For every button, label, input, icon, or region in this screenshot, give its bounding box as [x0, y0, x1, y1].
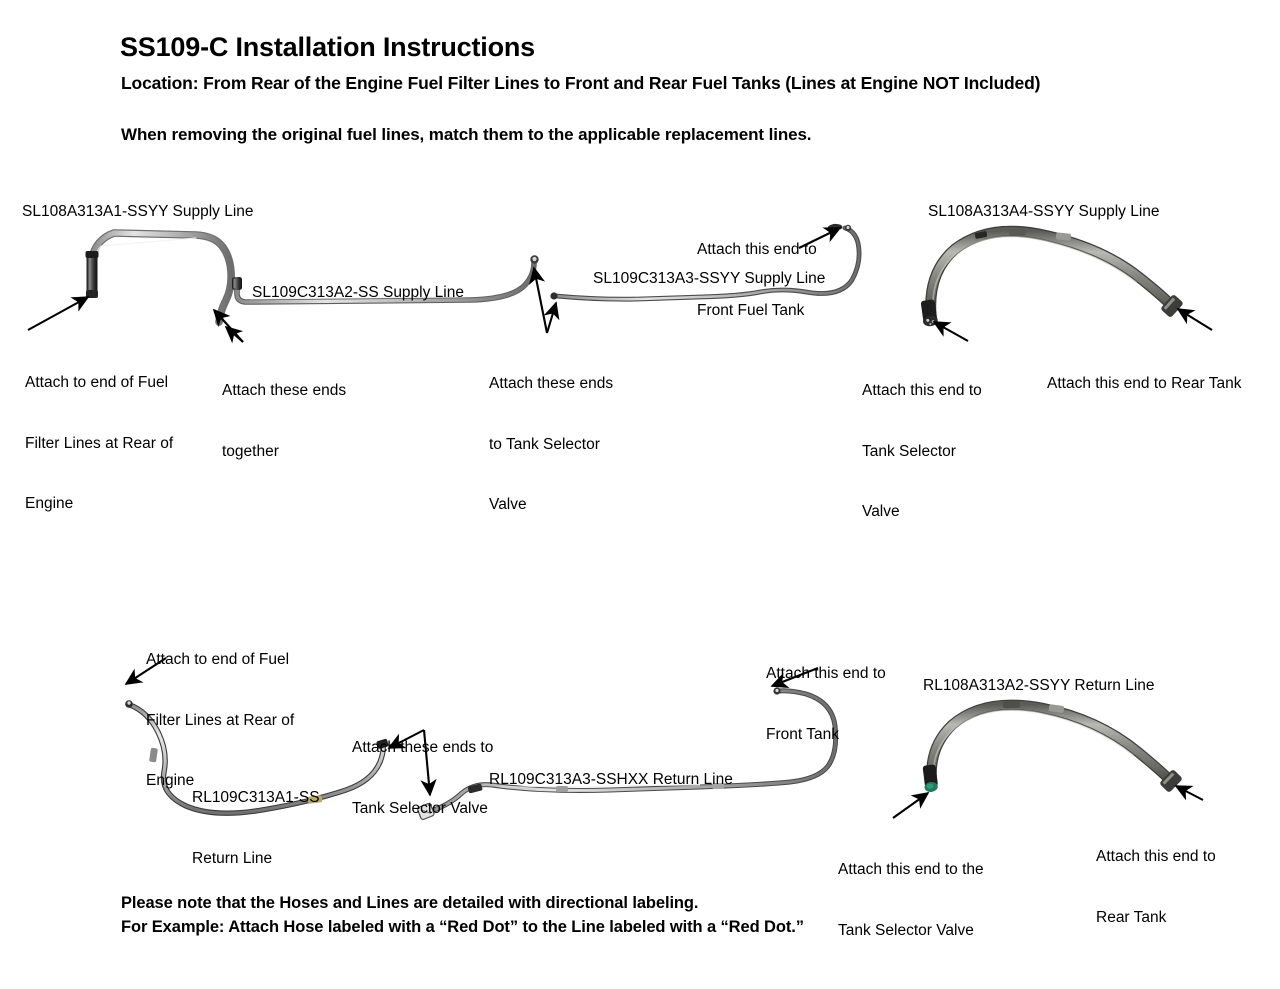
- callout-supply-attach-fuel-filter: Attach to end of Fuel Filter Lines at Re…: [25, 333, 173, 555]
- callout-line: Filter Lines at Rear of: [25, 434, 173, 454]
- callout-return-front-tank: Attach this end to Front Tank: [766, 624, 886, 785]
- callout-line: Attach these ends: [489, 374, 613, 394]
- callout-line: Attach this end to Rear Tank: [1047, 374, 1241, 394]
- callout-line: Rear Tank: [1096, 908, 1216, 928]
- part-label-sl108a313a4: SL108A313A4-SSYY Supply Line: [928, 202, 1160, 222]
- callout-line: Attach this end to: [862, 381, 982, 401]
- callout-line: Tank Selector Valve: [838, 921, 984, 941]
- callout-supply-rear-tank: Attach this end to Rear Tank: [1047, 334, 1241, 435]
- page-subtitle: Location: From Rear of the Engine Fuel F…: [121, 72, 1040, 95]
- callout-line: Tank Selector: [862, 442, 982, 462]
- part-sl108a313a1-tube: [86, 233, 232, 322]
- callout-line: together: [222, 442, 346, 462]
- callout-line: Attach this end to: [766, 664, 886, 684]
- callout-line: Engine: [25, 494, 173, 514]
- callout-line: Attach to end of Fuel: [25, 373, 173, 393]
- callout-supply-hose-tank-selector: Attach this end to Tank Selector Valve: [862, 341, 982, 563]
- part-label-sl108a313a1: SL108A313A1-SSYY Supply Line: [22, 202, 254, 222]
- callout-line: Attach this end to: [1096, 847, 1216, 867]
- part-label-rl109c313a3: RL109C313A3-SSHXX Return Line: [489, 770, 733, 790]
- callout-line: Attach this end to: [697, 240, 817, 260]
- callout-line: Attach to end of Fuel: [146, 650, 294, 670]
- callout-line: Attach this end to the: [838, 860, 984, 880]
- footer-note-line-1: Please note that the Hoses and Lines are…: [121, 893, 698, 914]
- callout-line: Attach these ends: [222, 381, 346, 401]
- page-title: SS109-C Installation Instructions: [120, 30, 535, 65]
- callout-line: to Tank Selector: [489, 435, 613, 455]
- part-label-line: RL109C313A1-SS: [192, 788, 320, 808]
- callout-return-rear-tank: Attach this end to Rear Tank: [1096, 807, 1216, 968]
- callout-line: Valve: [489, 495, 613, 515]
- part-sl108a313a4-hose: [920, 229, 1184, 327]
- part-label-rl108a313a2: RL108A313A2-SSYY Return Line: [923, 676, 1155, 696]
- footer-note-line-2: For Example: Attach Hose labeled with a …: [121, 917, 804, 938]
- callout-line: Front Fuel Tank: [697, 301, 817, 321]
- callout-line: Tank Selector Valve: [352, 799, 493, 819]
- page-note: When removing the original fuel lines, m…: [121, 124, 811, 146]
- callout-line: Attach these ends to: [352, 738, 493, 758]
- installation-instructions-page: SS109-C Installation Instructions Locati…: [0, 0, 1280, 989]
- part-rl108a313a2-hose: [922, 701, 1183, 793]
- part-label-sl109c313a2: SL109C313A2-SS Supply Line: [252, 283, 464, 303]
- callout-supply-front-fuel-tank: Attach this end to Front Fuel Tank: [697, 200, 817, 361]
- callout-supply-tank-selector-valve: Attach these ends to Tank Selector Valve: [489, 334, 613, 556]
- callout-return-hose-tank-selector: Attach this end to the Tank Selector Val…: [838, 820, 984, 981]
- callout-line: Valve: [862, 502, 982, 522]
- callout-line: Filter Lines at Rear of: [146, 711, 294, 731]
- part-label-line: Return Line: [192, 849, 320, 869]
- callout-supply-ends-together: Attach these ends together: [222, 341, 346, 502]
- callout-return-tank-selector-valve: Attach these ends to Tank Selector Valve: [352, 698, 493, 859]
- callout-line: Front Tank: [766, 725, 886, 745]
- part-label-rl109c313a1: RL109C313A1-SS Return Line: [192, 748, 320, 909]
